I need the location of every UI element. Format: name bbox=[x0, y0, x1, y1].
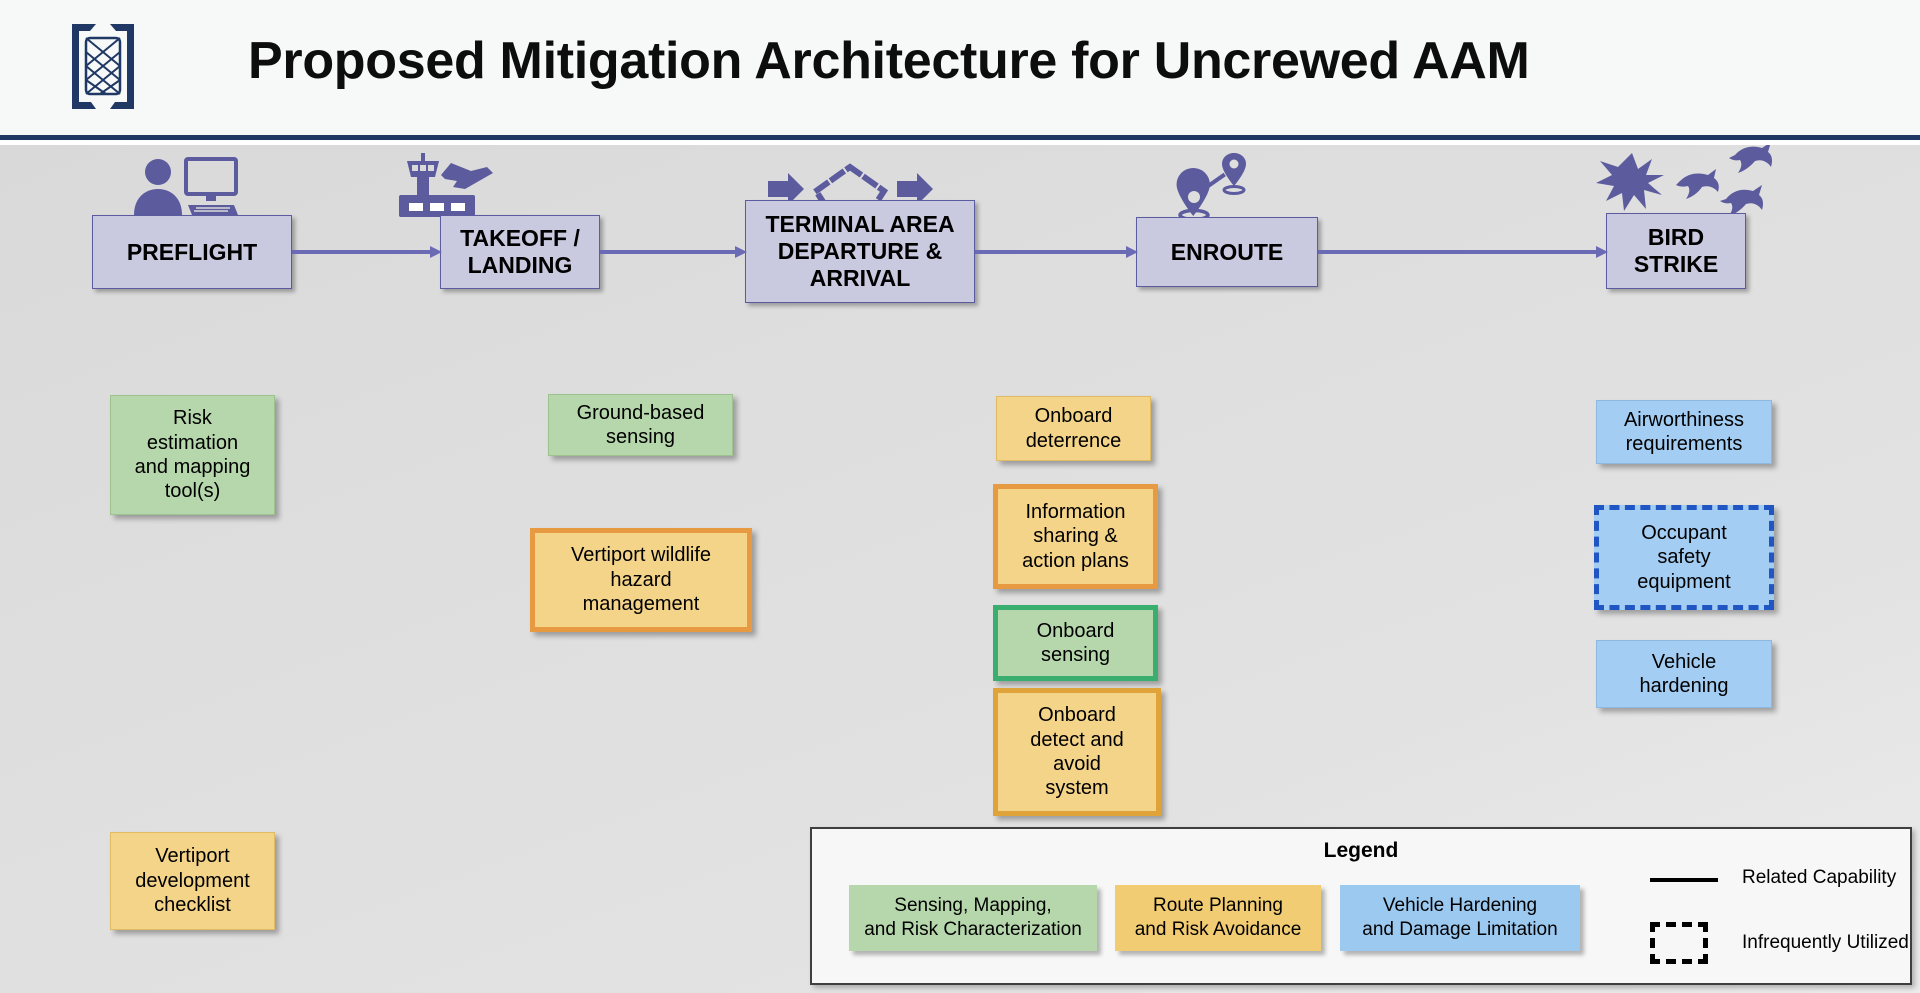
card-line: Vertiport wildlife bbox=[571, 543, 711, 567]
legend-key-label-related-capability: Related Capability bbox=[1742, 867, 1896, 889]
diagram-canvas: PREFLIGHT TAKEOFF / LANDING TERMINAL ARE… bbox=[0, 145, 1920, 993]
card-line: deterrence bbox=[1026, 429, 1122, 453]
card-line: sharing & bbox=[1033, 524, 1118, 548]
card-line: hardening bbox=[1640, 674, 1729, 698]
solid-line-icon bbox=[1650, 878, 1718, 882]
phase-label-birdstrike-line2: STRIKE bbox=[1634, 251, 1718, 278]
legend-swatch-line: and Risk Characterization bbox=[864, 918, 1082, 942]
phase-label-enroute: ENROUTE bbox=[1171, 239, 1283, 266]
card-onboard-detect-and-avoid-system[interactable]: Onboard detect and avoid system bbox=[993, 688, 1161, 816]
card-line: estimation bbox=[147, 431, 238, 455]
card-onboard-sensing[interactable]: Onboard sensing bbox=[993, 605, 1158, 681]
card-line: checklist bbox=[154, 893, 231, 917]
card-occupant-safety-equipment[interactable]: Occupant safety equipment bbox=[1594, 505, 1774, 610]
phase-label-birdstrike-line1: BIRD bbox=[1648, 224, 1704, 251]
legend-swatch-line: Vehicle Hardening bbox=[1383, 894, 1537, 918]
card-ground-based-sensing[interactable]: Ground-based sensing bbox=[548, 394, 733, 456]
card-line: and mapping bbox=[135, 455, 251, 479]
legend-title: Legend bbox=[812, 839, 1910, 863]
card-line: Risk bbox=[173, 406, 212, 430]
legend-key-label-infrequently-utilized: Infrequently Utilized bbox=[1742, 932, 1909, 954]
card-line: system bbox=[1045, 776, 1108, 800]
institution-logo bbox=[62, 18, 144, 114]
card-vertiport-wildlife-hazard-management[interactable]: Vertiport wildlife hazard management bbox=[530, 528, 752, 632]
card-information-sharing-action-plans[interactable]: Information sharing & action plans bbox=[993, 484, 1158, 589]
card-line: detect and bbox=[1030, 728, 1123, 752]
card-line: safety bbox=[1657, 545, 1710, 569]
legend-swatch-sensing-mapping-risk-characterization[interactable]: Sensing, Mapping, and Risk Characterizat… bbox=[849, 885, 1097, 951]
legend-swatch-route-planning-risk-avoidance[interactable]: Route Planning and Risk Avoidance bbox=[1115, 885, 1321, 951]
person-at-computer-icon bbox=[130, 155, 240, 222]
card-line: hazard bbox=[610, 568, 671, 592]
control-tower-airplane-icon bbox=[395, 153, 505, 222]
phase-label-terminal-line3: ARRIVAL bbox=[810, 265, 911, 292]
card-line: sensing bbox=[606, 425, 675, 449]
card-line: development bbox=[135, 869, 250, 893]
two-map-pins-route-icon bbox=[1172, 153, 1252, 224]
card-airworthiness-requirements[interactable]: Airworthiness requirements bbox=[1596, 400, 1772, 464]
title-bar: Proposed Mitigation Architecture for Unc… bbox=[0, 0, 1920, 140]
phase-label-takeoff-line1: TAKEOFF / bbox=[460, 225, 580, 252]
phase-box-preflight[interactable]: PREFLIGHT bbox=[92, 215, 292, 289]
phase-label-preflight: PREFLIGHT bbox=[127, 239, 257, 266]
legend-swatch-line: and Damage Limitation bbox=[1362, 918, 1557, 942]
legend-swatch-vehicle-hardening-damage-limitation[interactable]: Vehicle Hardening and Damage Limitation bbox=[1340, 885, 1580, 951]
card-line: requirements bbox=[1626, 432, 1743, 456]
card-vehicle-hardening[interactable]: Vehicle hardening bbox=[1596, 640, 1772, 708]
card-onboard-deterrence[interactable]: Onboard deterrence bbox=[996, 396, 1151, 461]
legend-swatch-line: Route Planning bbox=[1153, 894, 1283, 918]
card-line: equipment bbox=[1637, 570, 1730, 594]
dashed-box-icon bbox=[1650, 922, 1708, 964]
phase-box-enroute[interactable]: ENROUTE bbox=[1136, 217, 1318, 287]
phase-label-terminal-line2: DEPARTURE & bbox=[778, 238, 942, 265]
card-line: Airworthiness bbox=[1624, 408, 1744, 432]
phase-label-takeoff-line2: LANDING bbox=[468, 252, 573, 279]
page-title: Proposed Mitigation Architecture for Unc… bbox=[248, 31, 1530, 91]
card-line: avoid bbox=[1053, 752, 1101, 776]
legend-swatch-line: and Risk Avoidance bbox=[1135, 918, 1302, 942]
card-line: Onboard bbox=[1038, 703, 1116, 727]
flow-arrow-preflight-to-takeoff bbox=[292, 246, 442, 258]
card-line: Onboard bbox=[1035, 404, 1113, 428]
card-line: Vertiport bbox=[155, 844, 229, 868]
card-vertiport-development-checklist[interactable]: Vertiport development checklist bbox=[110, 832, 275, 930]
phase-box-terminal-area[interactable]: TERMINAL AREA DEPARTURE & ARRIVAL bbox=[745, 200, 975, 303]
card-line: Information bbox=[1025, 500, 1125, 524]
flow-arrow-takeoff-to-terminal bbox=[600, 246, 747, 258]
bird-strike-burst-icon bbox=[1594, 145, 1774, 222]
legend-panel: Legend Sensing, Mapping, and Risk Charac… bbox=[810, 827, 1912, 985]
card-line: tool(s) bbox=[165, 479, 221, 503]
card-risk-estimation[interactable]: Risk estimation and mapping tool(s) bbox=[110, 395, 275, 515]
phase-label-terminal-line1: TERMINAL AREA bbox=[765, 211, 954, 238]
phase-box-takeoff-landing[interactable]: TAKEOFF / LANDING bbox=[440, 215, 600, 289]
card-line: Occupant bbox=[1641, 521, 1727, 545]
card-line: sensing bbox=[1041, 643, 1110, 667]
phase-box-bird-strike[interactable]: BIRD STRIKE bbox=[1606, 213, 1746, 289]
slide-root: Proposed Mitigation Architecture for Unc… bbox=[0, 0, 1920, 993]
flow-arrow-enroute-to-birdstrike bbox=[1318, 246, 1608, 258]
card-line: Onboard bbox=[1037, 619, 1115, 643]
card-line: management bbox=[583, 592, 700, 616]
card-line: Vehicle bbox=[1652, 650, 1717, 674]
flow-arrow-terminal-to-enroute bbox=[975, 246, 1138, 258]
card-line: action plans bbox=[1022, 549, 1129, 573]
card-line: Ground-based bbox=[577, 401, 705, 425]
legend-swatch-line: Sensing, Mapping, bbox=[894, 894, 1051, 918]
